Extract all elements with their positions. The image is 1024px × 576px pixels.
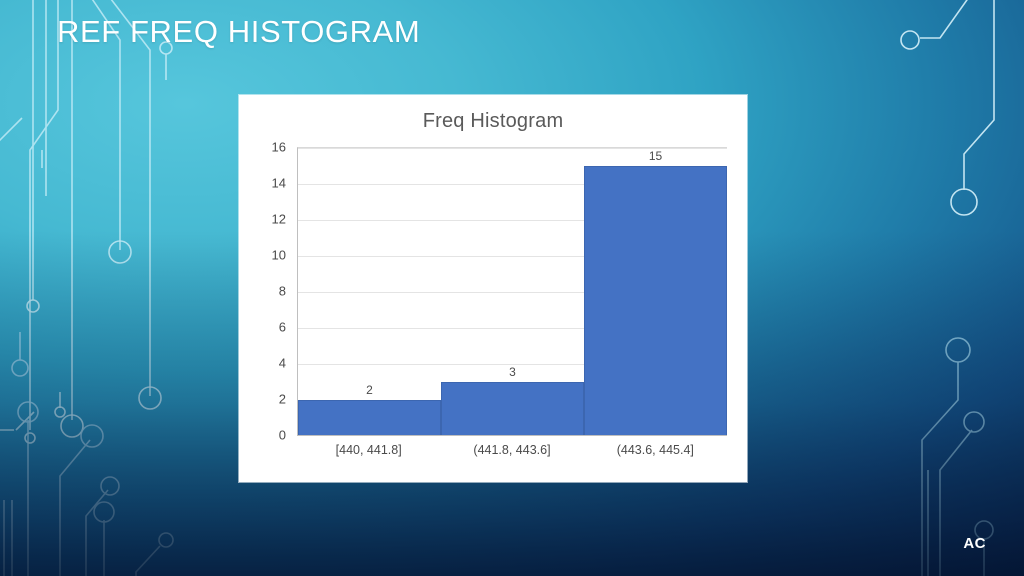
x-axis: [440, 441.8](441.8, 443.6](443.6, 445.4] xyxy=(297,443,727,457)
presentation-slide: REF FREQ HISTOGRAM Freq Histogram 161412… xyxy=(0,0,1024,576)
chart-panel: Freq Histogram 1614121086420 2315 [440, … xyxy=(239,95,747,482)
y-axis-tick-label: 12 xyxy=(272,212,286,227)
bar[interactable] xyxy=(298,400,441,436)
bar-value-label: 3 xyxy=(441,365,584,379)
bar-value-label: 2 xyxy=(298,383,441,397)
page-title: REF FREQ HISTOGRAM xyxy=(57,14,420,50)
y-axis-tick-label: 4 xyxy=(279,356,286,371)
y-axis-tick-label: 8 xyxy=(279,284,286,299)
x-axis-tick-label: (443.6, 445.4] xyxy=(584,443,727,457)
x-axis-tick-label: [440, 441.8] xyxy=(297,443,440,457)
y-axis-tick-label: 2 xyxy=(279,392,286,407)
y-axis: 1614121086420 xyxy=(263,147,291,435)
bar-series: 2315 xyxy=(298,148,727,436)
plot-wrap: 1614121086420 2315 [440, 441.8](441.8, 4… xyxy=(263,147,735,443)
chart-body: 1614121086420 2315 [440, 441.8](441.8, 4… xyxy=(239,147,747,482)
bar-column[interactable]: 15 xyxy=(584,148,727,436)
bar-value-label: 15 xyxy=(584,149,727,163)
chart-title: Freq Histogram xyxy=(239,110,747,133)
x-axis-line xyxy=(297,435,727,436)
bar[interactable] xyxy=(584,166,727,436)
y-axis-tick-label: 0 xyxy=(279,428,286,443)
x-axis-tick-label: (441.8, 443.6] xyxy=(440,443,583,457)
bar-column[interactable]: 3 xyxy=(441,148,584,436)
circuit-decoration-right xyxy=(854,0,1024,576)
y-axis-tick-label: 16 xyxy=(272,140,286,155)
circuit-decoration-left xyxy=(0,0,210,576)
author-initials-watermark: AC xyxy=(963,535,986,552)
y-axis-tick-label: 6 xyxy=(279,320,286,335)
plot-area: 2315 xyxy=(297,147,727,436)
y-axis-tick-label: 14 xyxy=(272,176,286,191)
bar[interactable] xyxy=(441,382,584,436)
y-axis-tick-label: 10 xyxy=(272,248,286,263)
bar-column[interactable]: 2 xyxy=(298,148,441,436)
